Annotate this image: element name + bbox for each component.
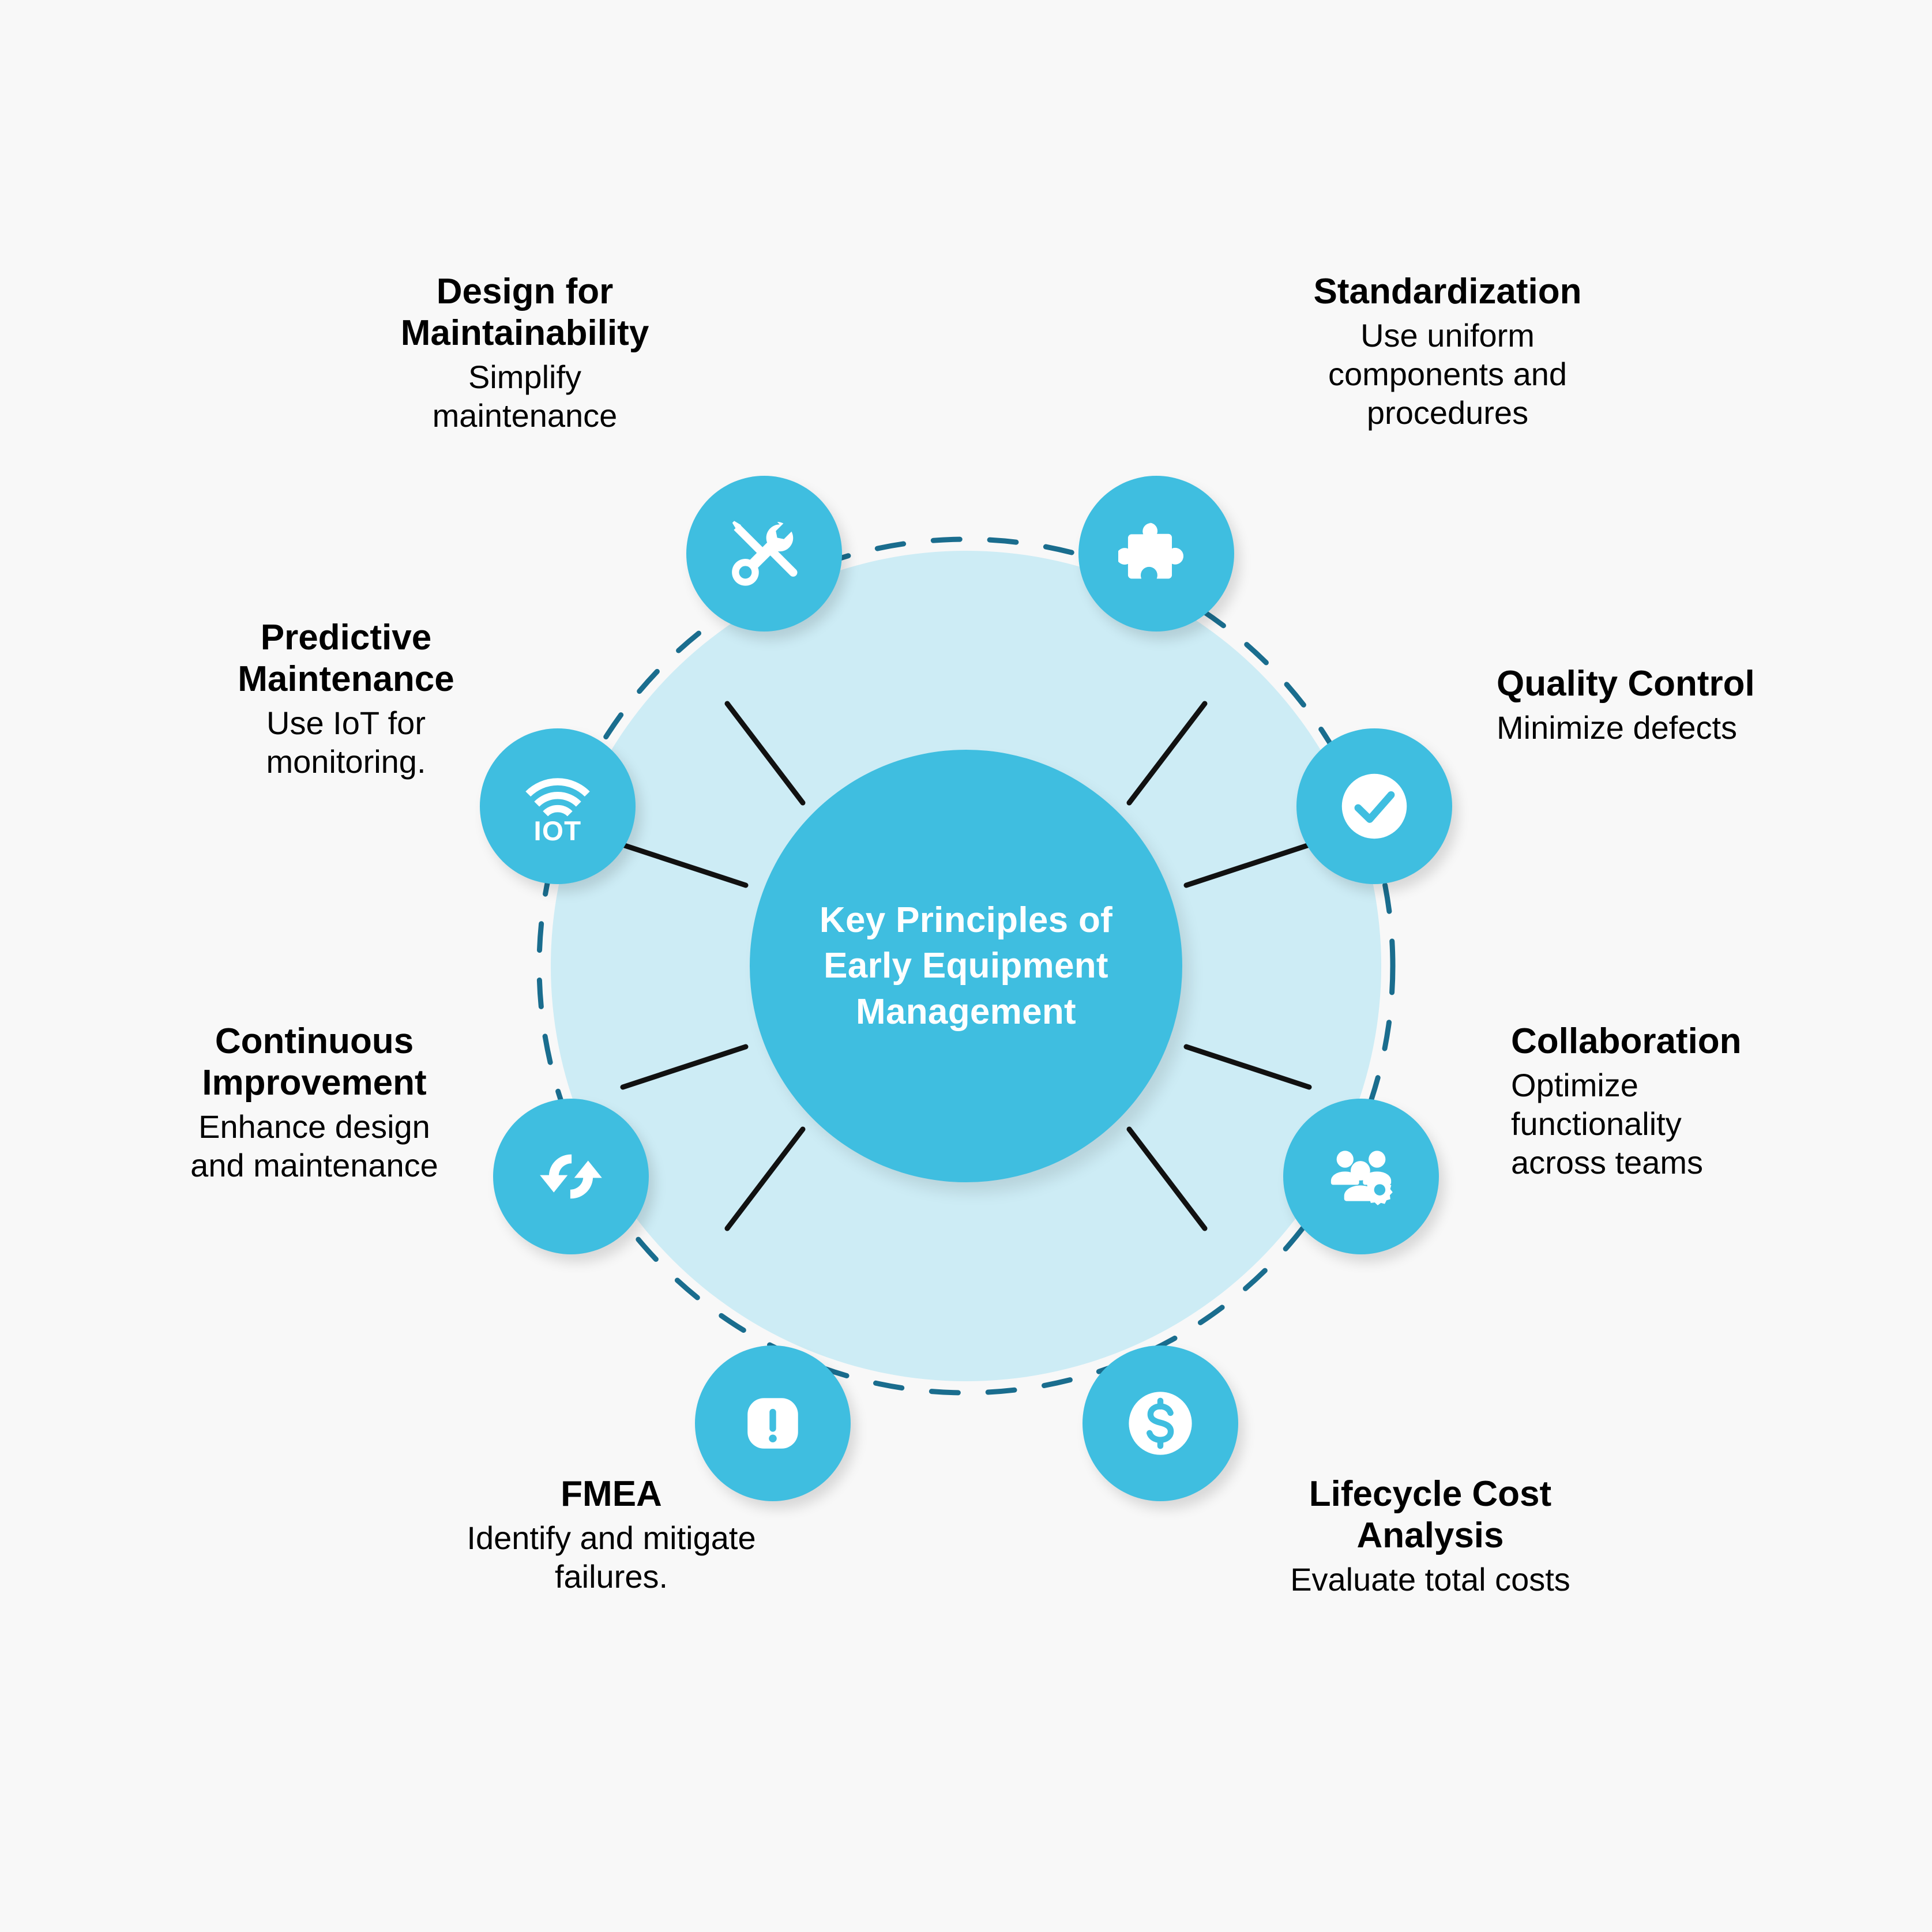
label-title: Continuous Improvement [87, 1021, 542, 1104]
label-title: Quality Control [1497, 663, 1912, 705]
label-title: Collaboration [1511, 1021, 1915, 1062]
label-subtitle: Evaluate total costs [1194, 1560, 1667, 1599]
infographic-canvas: Key Principles of Early Equipment Manage… [0, 0, 1932, 1932]
people-gear-icon [1320, 1136, 1402, 1217]
label-subtitle: Identify and mitigate failures. [381, 1518, 842, 1596]
label-predictive-maintenance: Predictive Maintenance Use IoT for monit… [144, 617, 548, 781]
label-lifecycle-cost-analysis: Lifecycle Cost Analysis Evaluate total c… [1194, 1474, 1667, 1599]
label-title: Lifecycle Cost Analysis [1194, 1474, 1667, 1557]
tools-icon [724, 514, 804, 593]
label-subtitle: Use IoT for monitoring. [144, 704, 548, 781]
refresh-cycle-icon [531, 1136, 611, 1217]
label-quality-control: Quality Control Minimize defects [1497, 663, 1912, 747]
label-fmea: FMEA Identify and mitigate failures. [381, 1474, 842, 1596]
label-collaboration: Collaboration Optimize functionality acr… [1511, 1021, 1915, 1182]
svg-text:IOT: IOT [534, 816, 582, 847]
label-subtitle: Minimize defects [1497, 708, 1912, 747]
label-title: FMEA [381, 1474, 842, 1515]
label-design-for-maintainability: Design for Maintainability Simplify main… [300, 271, 750, 435]
node-quality-control[interactable] [1296, 728, 1452, 884]
node-standardization[interactable] [1078, 476, 1234, 632]
label-continuous-improvement: Continuous Improvement Enhance design an… [87, 1021, 542, 1185]
check-circle-icon [1331, 763, 1418, 850]
label-subtitle: Use uniform components and procedures [1228, 316, 1667, 433]
alert-exclamation-icon [732, 1383, 813, 1464]
label-subtitle: Enhance design and maintenance [87, 1107, 542, 1185]
label-subtitle: Simplify maintenance [300, 358, 750, 435]
node-design-for-maintainability[interactable] [686, 476, 842, 632]
label-title: Standardization [1228, 271, 1667, 313]
node-collaboration[interactable] [1283, 1099, 1439, 1254]
label-title: Predictive Maintenance [144, 617, 548, 700]
label-standardization: Standardization Use uniform components a… [1228, 271, 1667, 432]
dollar-circle-icon [1117, 1380, 1204, 1467]
label-title: Design for Maintainability [300, 271, 750, 354]
center-hub: Key Principles of Early Equipment Manage… [750, 750, 1182, 1182]
label-subtitle: Optimize functionality across teams [1511, 1066, 1915, 1182]
puzzle-piece-icon [1118, 516, 1194, 592]
center-hub-title: Key Principles of Early Equipment Manage… [750, 897, 1182, 1035]
